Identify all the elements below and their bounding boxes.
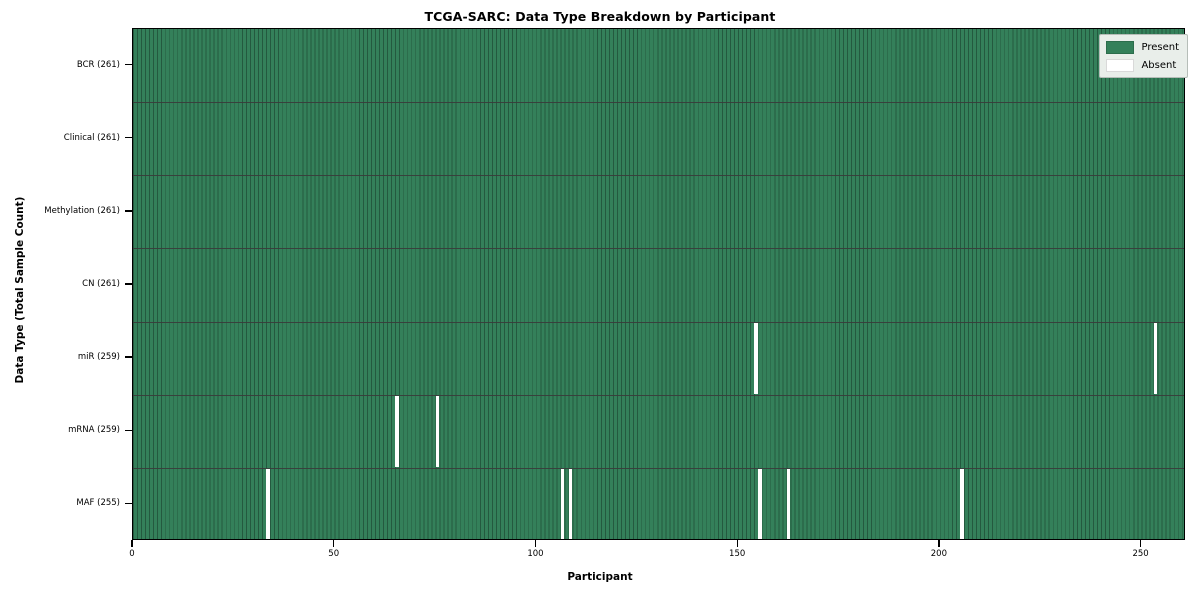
heatmap-row-maf xyxy=(133,468,1184,540)
x-tick-label: 250 xyxy=(1132,549,1148,559)
legend-swatch-present xyxy=(1106,41,1134,54)
y-tick-mark xyxy=(125,283,132,284)
y-tick-label-mrna: mRNA (259) xyxy=(0,425,120,435)
x-tick-mark xyxy=(333,540,334,547)
y-tick-label-bcr: BCR (261) xyxy=(0,60,120,70)
x-tick-mark xyxy=(535,540,536,547)
heatmap-row-clinical xyxy=(133,102,1184,175)
absent-cell xyxy=(960,469,964,540)
y-tick-mark xyxy=(125,64,132,65)
legend-label-present: Present xyxy=(1141,41,1179,54)
x-tick-label: 150 xyxy=(729,549,745,559)
y-tick-mark xyxy=(125,210,132,211)
absent-cell xyxy=(1154,323,1158,394)
y-tick-mark xyxy=(125,356,132,357)
heatmap-row-bcr xyxy=(133,29,1184,102)
legend-label-absent: Absent xyxy=(1141,59,1176,72)
absent-cell xyxy=(569,469,573,540)
x-tick-mark xyxy=(1140,540,1141,547)
absent-cell xyxy=(561,469,565,540)
heatmap-row-mir xyxy=(133,322,1184,395)
y-tick-label-mir: miR (259) xyxy=(0,352,120,362)
x-tick-label: 100 xyxy=(527,549,543,559)
heatmap-row-mrna xyxy=(133,395,1184,468)
y-tick-mark xyxy=(125,430,132,431)
y-tick-mark xyxy=(125,137,132,138)
x-tick-mark xyxy=(938,540,939,547)
x-axis-label: Participant xyxy=(0,571,1200,583)
absent-cell xyxy=(436,396,440,467)
y-axis-label: Data Type (Total Sample Count) xyxy=(14,110,26,470)
absent-cell xyxy=(758,469,762,540)
x-tick-mark xyxy=(131,540,132,547)
y-tick-mark xyxy=(125,503,132,504)
chart-figure: TCGA-SARC: Data Type Breakdown by Partic… xyxy=(0,0,1200,600)
absent-cell xyxy=(266,469,270,540)
absent-cell xyxy=(787,469,791,540)
heatmap-row-cn xyxy=(133,248,1184,321)
x-tick-label: 0 xyxy=(129,549,134,559)
absent-cell xyxy=(754,323,758,394)
heatmap-row-methylation xyxy=(133,175,1184,248)
legend-item[interactable]: Present xyxy=(1106,40,1179,54)
heatmap-plot-area xyxy=(132,28,1185,540)
absent-cell xyxy=(395,396,399,467)
legend-swatch-absent xyxy=(1106,59,1134,72)
x-tick-label: 50 xyxy=(328,549,339,559)
y-tick-label-methylation: Methylation (261) xyxy=(0,206,120,216)
y-tick-label-maf: MAF (255) xyxy=(0,498,120,508)
legend-item[interactable]: Absent xyxy=(1106,58,1179,72)
y-tick-label-clinical: Clinical (261) xyxy=(0,133,120,143)
x-tick-label: 200 xyxy=(931,549,947,559)
chart-legend: PresentAbsent xyxy=(1099,34,1188,78)
y-tick-label-cn: CN (261) xyxy=(0,279,120,289)
chart-title: TCGA-SARC: Data Type Breakdown by Partic… xyxy=(0,9,1200,24)
x-tick-mark xyxy=(737,540,738,547)
